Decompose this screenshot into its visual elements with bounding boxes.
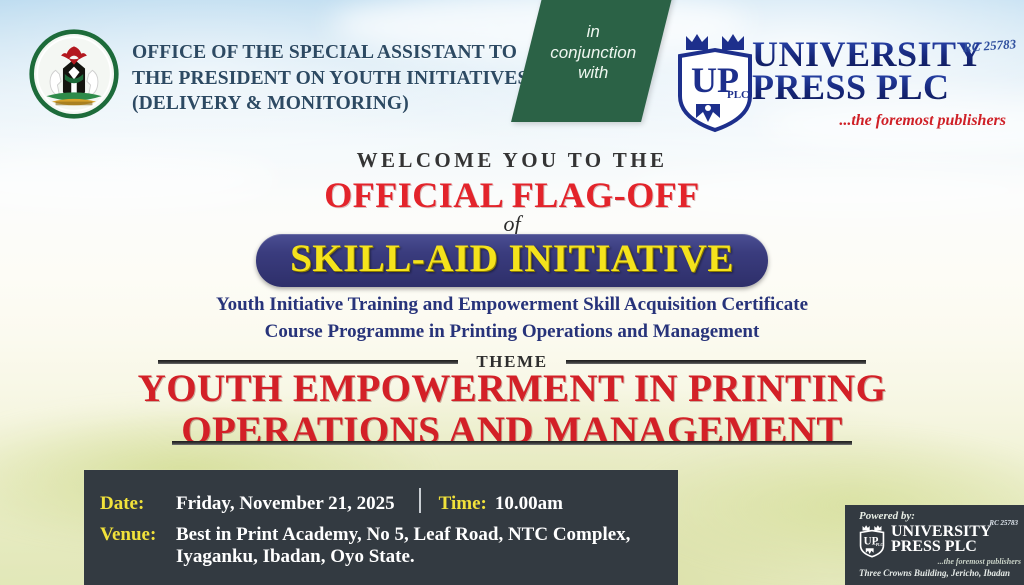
event-flyer: OFFICE OF THE SPECIAL ASSISTANT TO THE P… xyxy=(0,0,1024,585)
powered-by-box: Powered by: UP PLC UNIVERSITY PRESS PLC … xyxy=(845,505,1024,585)
in-conjunction-with-banner: in conjunction with xyxy=(511,0,675,122)
up-tagline: ...the foremost publishers xyxy=(752,112,1012,130)
powered-rc-number: RC 25783 xyxy=(989,519,1018,527)
powered-by-label: Powered by: xyxy=(859,510,915,522)
org-line-1: OFFICE OF THE SPECIAL ASSISTANT TO xyxy=(132,40,532,66)
venue-line-2: Iyaganku, Ibadan, Oyo State. xyxy=(176,546,678,568)
up-plc-shield-icon: UP PLC xyxy=(857,524,887,558)
conjunction-line-1: in xyxy=(528,22,658,43)
theme-rule-right xyxy=(566,360,866,364)
powered-name-line-2: PRESS PLC xyxy=(891,540,1021,555)
initiative-banner: SKILL-AID INITIATIVE xyxy=(256,234,768,287)
time-label: Time: xyxy=(439,493,487,515)
subtitle-line-2: Course Programme in Printing Operations … xyxy=(0,319,1024,346)
flyer-header: OFFICE OF THE SPECIAL ASSISTANT TO THE P… xyxy=(0,0,1024,140)
theme-line-2: OPERATIONS AND MANAGEMENT xyxy=(0,410,1024,452)
theme-underline xyxy=(172,441,852,445)
date-label: Date: xyxy=(100,493,176,515)
theme-rule-left xyxy=(158,360,458,364)
up-name-line-2: PRESS PLC xyxy=(752,71,1012,104)
venue-line-1: Best in Print Academy, No 5, Leaf Road, … xyxy=(176,524,630,546)
powered-address: Three Crowns Building, Jericho, Ibadan xyxy=(845,568,1024,578)
theme-line-1: YOUTH EMPOWERMENT IN PRINTING xyxy=(0,368,1024,410)
programme-subtitle: Youth Initiative Training and Empowermen… xyxy=(0,292,1024,346)
welcome-line: WELCOME YOU TO THE xyxy=(0,148,1024,173)
theme-title: YOUTH EMPOWERMENT IN PRINTING OPERATIONS… xyxy=(0,368,1024,452)
conjunction-line-2: conjunction xyxy=(528,43,658,64)
date-time-row: Date: Friday, November 21, 2025 Time: 10… xyxy=(100,484,678,515)
flag-off-headline: OFFICIAL FLAG-OFF xyxy=(0,174,1024,216)
vertical-divider xyxy=(419,488,421,513)
venue-row: Venue: Best in Print Academy, No 5, Leaf… xyxy=(100,524,678,546)
organization-name: OFFICE OF THE SPECIAL ASSISTANT TO THE P… xyxy=(132,40,532,117)
nigeria-coat-of-arms-icon xyxy=(28,28,120,120)
svg-text:PLC: PLC xyxy=(876,543,884,547)
org-line-3: (DELIVERY & MONITORING) xyxy=(132,91,532,117)
up-plc-shield-icon: UP PLC xyxy=(672,30,758,134)
venue-label: Venue: xyxy=(100,524,176,546)
initiative-name: SKILL-AID INITIATIVE xyxy=(290,239,734,279)
svg-text:PLC: PLC xyxy=(727,89,749,101)
conjunction-line-3: with xyxy=(528,63,658,84)
event-details-box: Date: Friday, November 21, 2025 Time: 10… xyxy=(84,470,678,585)
org-line-2: THE PRESIDENT ON YOUTH INITIATIVES xyxy=(132,66,532,92)
subtitle-line-1: Youth Initiative Training and Empowermen… xyxy=(0,292,1024,319)
powered-by-wordmark: UNIVERSITY PRESS PLC xyxy=(891,525,1021,555)
date-value: Friday, November 21, 2025 xyxy=(176,493,395,515)
powered-tagline: ...the foremost publishers xyxy=(891,557,1021,566)
initiative-banner-wrap: SKILL-AID INITIATIVE xyxy=(0,234,1024,287)
time-value: 10.00am xyxy=(495,493,563,515)
